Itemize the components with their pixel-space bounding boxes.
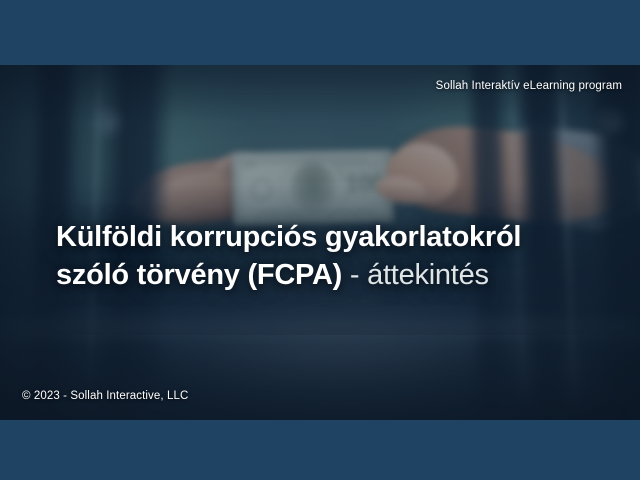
page-title: Külföldi korrupciós gyakorlatokról szóló… (56, 218, 576, 294)
page-title-line-1: Külföldi korrupciós gyakorlatokról (56, 218, 576, 256)
title-slide: 100 100 Sollah Interaktív eLearning prog… (0, 0, 640, 480)
program-label: Sollah Interaktív eLearning program (436, 80, 622, 92)
page-title-line-2: szóló törvény (FCPA) - áttekintés (56, 256, 576, 294)
letterbox-bottom (0, 420, 640, 480)
copyright-notice: © 2023 - Sollah Interactive, LLC (22, 390, 188, 402)
page-title-subtitle: - áttekintés (342, 259, 489, 291)
letterbox-top (0, 0, 640, 65)
page-title-line-2-bold: szóló törvény (FCPA) (56, 259, 342, 291)
